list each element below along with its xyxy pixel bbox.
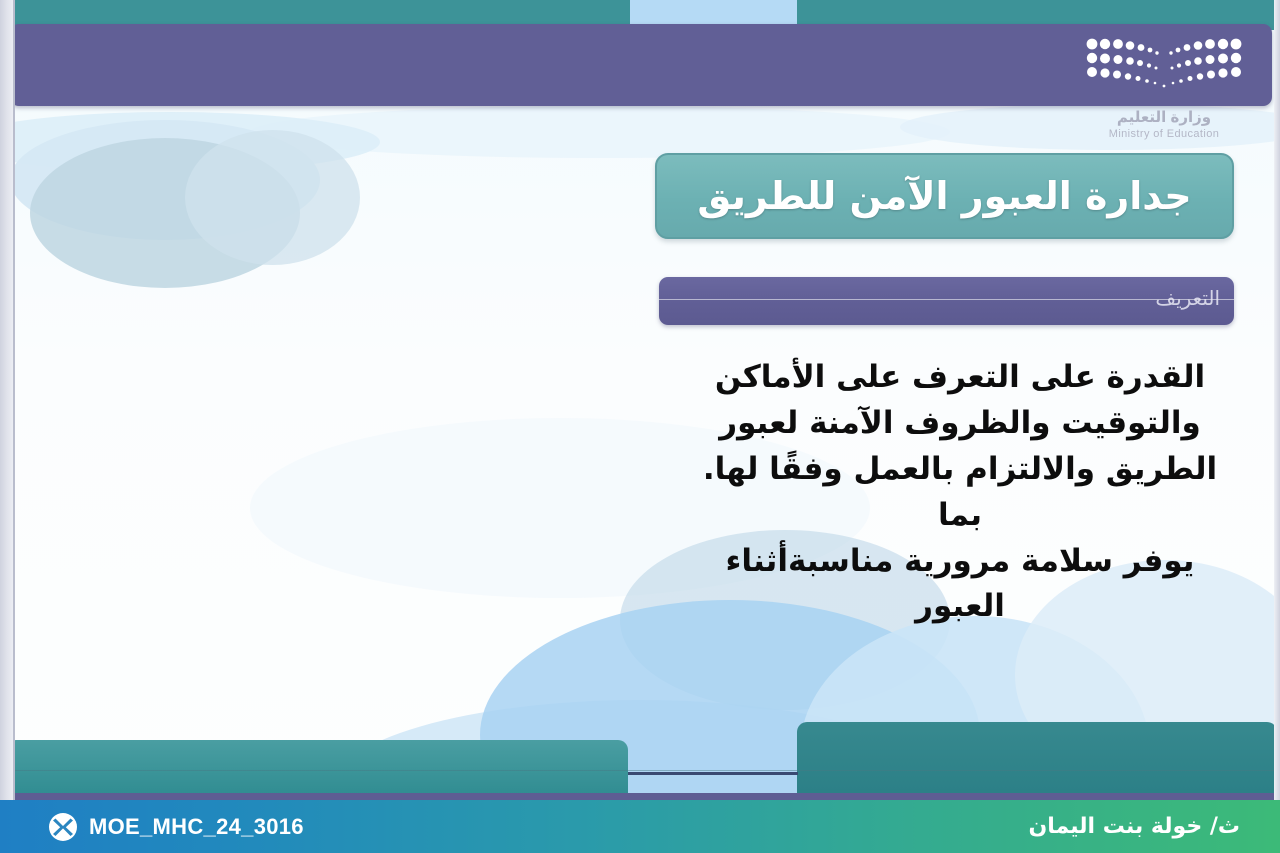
slide-right-edge — [1274, 0, 1280, 800]
slide-left-edge-line — [13, 0, 15, 800]
slide-body-text: القدرة على التعرف على الأماكنوالتوقيت وا… — [680, 355, 1240, 630]
background-blob — [185, 130, 360, 265]
footer-left-group: MOE_MHC_24_3016 — [48, 812, 304, 842]
presentation-slide: وزارة التعليم Ministry of Education جدار… — [0, 0, 1280, 853]
footer-author: ث/ خولة بنت اليمان — [1029, 814, 1240, 839]
logo-name-english: Ministry of Education — [1078, 128, 1250, 140]
section-label: التعريف — [1155, 286, 1220, 310]
section-rule — [659, 299, 1234, 300]
saudi-moe-dots-icon — [1078, 32, 1250, 92]
slab-underline — [6, 793, 1277, 800]
body-line: القدرة على التعرف على الأماكن — [680, 355, 1240, 401]
slab-hairline — [6, 770, 1277, 771]
footer-slab-right — [797, 722, 1277, 800]
slide-title-box: جدارة العبور الآمن للطريق — [655, 153, 1234, 239]
slab-gap-line — [628, 772, 798, 775]
slide-footer: MOE_MHC_24_3016 ث/ خولة بنت اليمان — [0, 800, 1280, 853]
body-line: العبور — [680, 584, 1240, 630]
slide-left-edge — [0, 0, 14, 800]
footer-code: MOE_MHC_24_3016 — [89, 814, 304, 840]
body-line: والتوقيت والظروف الآمنة لعبور — [680, 401, 1240, 447]
body-line: الطريق والالتزام بالعمل وفقًا لها. بما — [680, 447, 1240, 539]
logo-name-arabic: وزارة التعليم — [1078, 108, 1250, 126]
slide-title: جدارة العبور الآمن للطريق — [697, 174, 1191, 218]
x-circle-icon — [48, 812, 78, 842]
ministry-of-education-logo: وزارة التعليم Ministry of Education — [1078, 32, 1250, 140]
section-header-bar: التعريف — [659, 277, 1234, 325]
body-line: يوفر سلامة مرورية مناسبةأثناء — [680, 539, 1240, 585]
